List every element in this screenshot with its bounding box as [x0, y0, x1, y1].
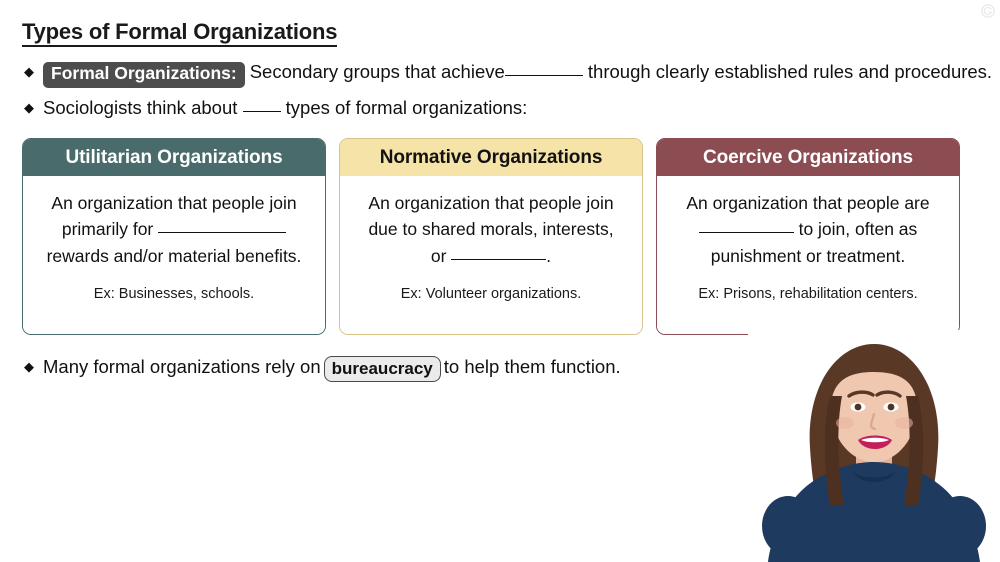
card-definition: An organization that people join primari…: [35, 190, 313, 269]
circle-g-watermark-icon: [980, 3, 996, 19]
card-body: An organization that people join primari…: [23, 176, 325, 334]
definition-text-after-blank: through clearly established rules and pr…: [588, 61, 992, 82]
bullet-marker-icon: ◆: [24, 360, 34, 373]
definition-text-before-blank: Secondary groups that achieve: [250, 61, 505, 82]
bureaucracy-text-before-box: Many formal organizations rely on: [43, 356, 321, 377]
definition-line-1: An organization that people join: [352, 190, 630, 216]
bullet-types-intro: ◆ Sociologists think about types of form…: [24, 96, 527, 119]
definition-line-3-text: or: [431, 246, 447, 266]
bullet-bureaucracy: ◆ Many formal organizations rely onburea…: [24, 355, 621, 381]
definition-line-2: to join, often as: [669, 216, 947, 242]
card-utilitarian-organizations: Utilitarian Organizations An organizatio…: [22, 138, 326, 335]
definition-line-3-suffix: .: [546, 246, 551, 266]
presenter-video-overlay: [748, 330, 1000, 562]
card-body: An organization that people join due to …: [340, 176, 642, 334]
boxed-term-bureaucracy: bureaucracy: [324, 356, 441, 382]
definition-line-1: An organization that people join: [35, 190, 313, 216]
card-example: Ex: Volunteer organizations.: [352, 285, 630, 304]
bullet-text: Many formal organizations rely onbureauc…: [43, 355, 621, 381]
definition-line-2-text: primarily for: [62, 219, 153, 239]
card-example: Ex: Prisons, rehabilitation centers.: [669, 285, 947, 304]
definition-line-2-text: to join, often as: [799, 219, 918, 239]
blank-line-card-normative: [451, 259, 546, 260]
blank-line-card-coercive: [699, 232, 794, 233]
definition-line-3: rewards and/or material benefits.: [35, 243, 313, 269]
blank-line-definition: [505, 75, 583, 76]
card-definition: An organization that people are to join,…: [669, 190, 947, 269]
bullet-marker-icon: ◆: [24, 65, 34, 78]
bullet-text: Sociologists think about types of formal…: [43, 96, 527, 119]
term-tag-formal-organizations: Formal Organizations:: [43, 62, 245, 88]
bullet-formal-organizations-definition: ◆ Formal Organizations:Secondary groups …: [24, 60, 992, 87]
card-example: Ex: Businesses, schools.: [35, 285, 313, 304]
definition-line-1: An organization that people are: [669, 190, 947, 216]
blank-line-types-count: [243, 111, 281, 112]
bureaucracy-text-after-box: to help them function.: [444, 356, 621, 377]
bullet-text: Formal Organizations:Secondary groups th…: [43, 60, 992, 87]
types-intro-text-before-blank: Sociologists think about: [43, 97, 237, 118]
blank-line-card-utilitarian: [158, 232, 286, 233]
types-intro-text-after-blank: types of formal organizations:: [286, 97, 528, 118]
definition-line-2: primarily for: [35, 216, 313, 242]
card-normative-organizations: Normative Organizations An organization …: [339, 138, 643, 335]
definition-line-3: punishment or treatment.: [669, 243, 947, 269]
definition-line-3: or .: [352, 243, 630, 269]
card-coercive-organizations: Coercive Organizations An organization t…: [656, 138, 960, 335]
definition-line-2: due to shared morals, interests,: [352, 216, 630, 242]
card-header-title: Normative Organizations: [340, 139, 642, 176]
card-definition: An organization that people join due to …: [352, 190, 630, 269]
card-header-title: Utilitarian Organizations: [23, 139, 325, 176]
slide-canvas: Types of Formal Organizations ◆ Formal O…: [0, 0, 1000, 562]
card-header-title: Coercive Organizations: [657, 139, 959, 176]
page-title: Types of Formal Organizations: [22, 20, 337, 47]
card-body: An organization that people are to join,…: [657, 176, 959, 334]
bullet-marker-icon: ◆: [24, 101, 34, 114]
